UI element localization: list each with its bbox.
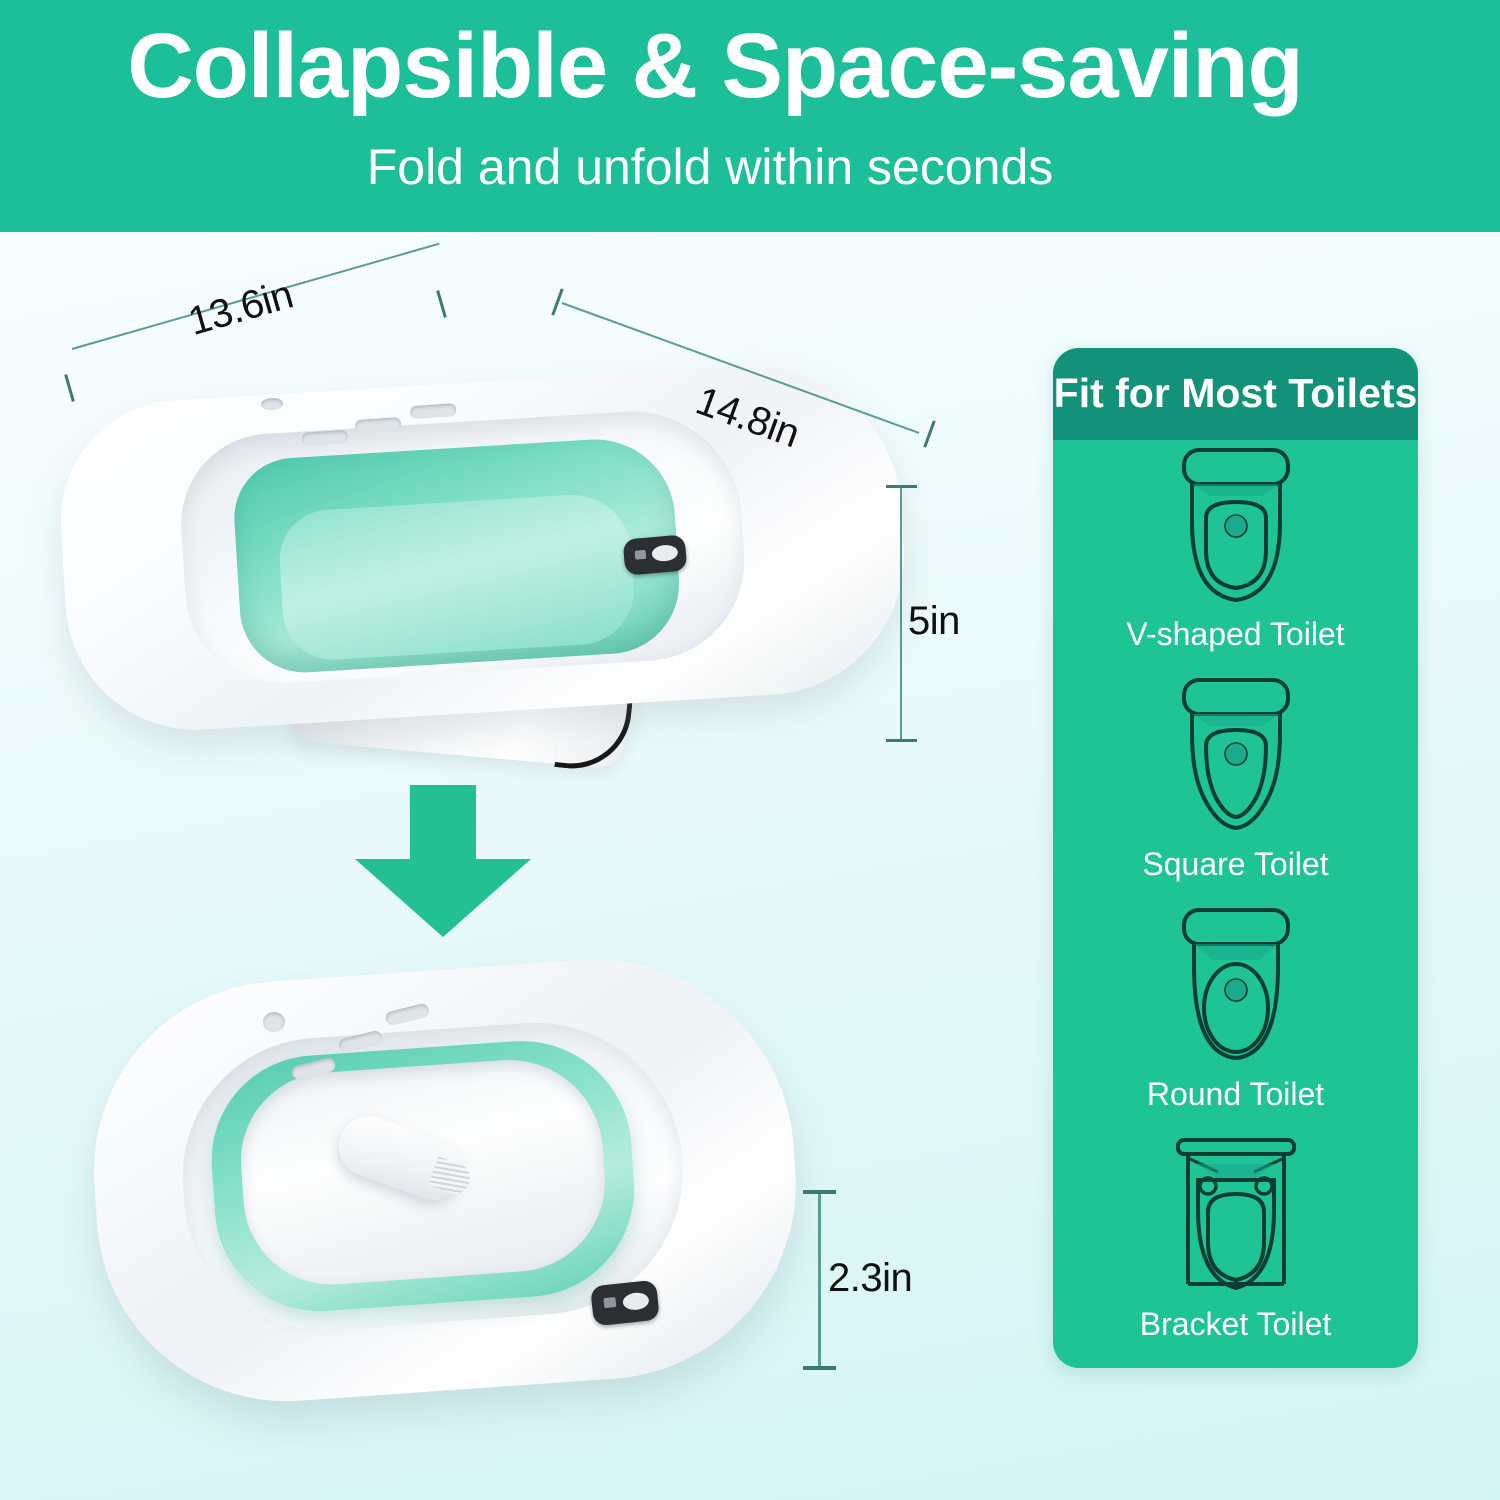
folded-control-knob xyxy=(622,1292,650,1312)
bracket-toilet-icon xyxy=(1146,1134,1326,1304)
unfolded-basin-floor xyxy=(277,491,638,662)
dimension-cap-width-end xyxy=(436,290,447,318)
panel-header: Fit for Most Toilets xyxy=(1053,348,1418,440)
round-toilet-icon xyxy=(1146,904,1326,1074)
toilet-type-label: Square Toilet xyxy=(1053,846,1418,883)
control-knob xyxy=(651,544,678,562)
dimension-line-folded-height xyxy=(818,1192,821,1370)
toilet-type-label: Bracket Toilet xyxy=(1053,1306,1418,1343)
dimension-cap-folded-top xyxy=(803,1190,836,1194)
panel-title: Fit for Most Toilets xyxy=(1053,370,1418,417)
page-title: Collapsible & Space-saving xyxy=(0,18,1430,116)
dimension-cap-height-top xyxy=(886,485,917,488)
fit-for-most-toilets-panel: Fit for Most Toilets V-shaped Toilet S xyxy=(1053,348,1418,1368)
dimension-label-height: 5in xyxy=(908,599,960,644)
toilet-type-label: Round Toilet xyxy=(1053,1076,1418,1113)
unfolded-control-button[interactable] xyxy=(623,534,688,575)
control-indicator-icon xyxy=(635,550,647,560)
folded-sitz-bath-photo xyxy=(75,960,835,1430)
unfolded-sitz-bath-photo xyxy=(55,330,915,790)
fold-arrow-icon xyxy=(355,785,531,935)
page-subtitle: Fold and unfold within seconds xyxy=(0,140,1420,195)
infographic-page: Collapsible & Space-saving Fold and unfo… xyxy=(0,0,1500,1500)
folded-control-button[interactable] xyxy=(590,1280,660,1327)
toilet-type-round: Round Toilet xyxy=(1053,904,1418,1113)
square-toilet-icon xyxy=(1146,674,1326,844)
v-shaped-toilet-icon xyxy=(1146,444,1326,614)
dimension-cap-folded-bottom xyxy=(803,1366,836,1370)
folded-control-indicator-icon xyxy=(603,1297,616,1308)
dimension-line-height xyxy=(900,487,902,741)
dimension-label-folded-height: 2.3in xyxy=(828,1256,912,1301)
toilet-type-v-shaped: V-shaped Toilet xyxy=(1053,444,1418,653)
dimension-cap-depth-end xyxy=(923,420,935,447)
toilet-type-square: Square Toilet xyxy=(1053,674,1418,883)
dimension-cap-height-bottom xyxy=(886,739,917,742)
toilet-type-bracket: Bracket Toilet xyxy=(1053,1134,1418,1343)
header-banner: Collapsible & Space-saving Fold and unfo… xyxy=(0,0,1500,232)
folded-overflow-hole xyxy=(263,1012,285,1032)
toilet-type-label: V-shaped Toilet xyxy=(1053,616,1418,653)
